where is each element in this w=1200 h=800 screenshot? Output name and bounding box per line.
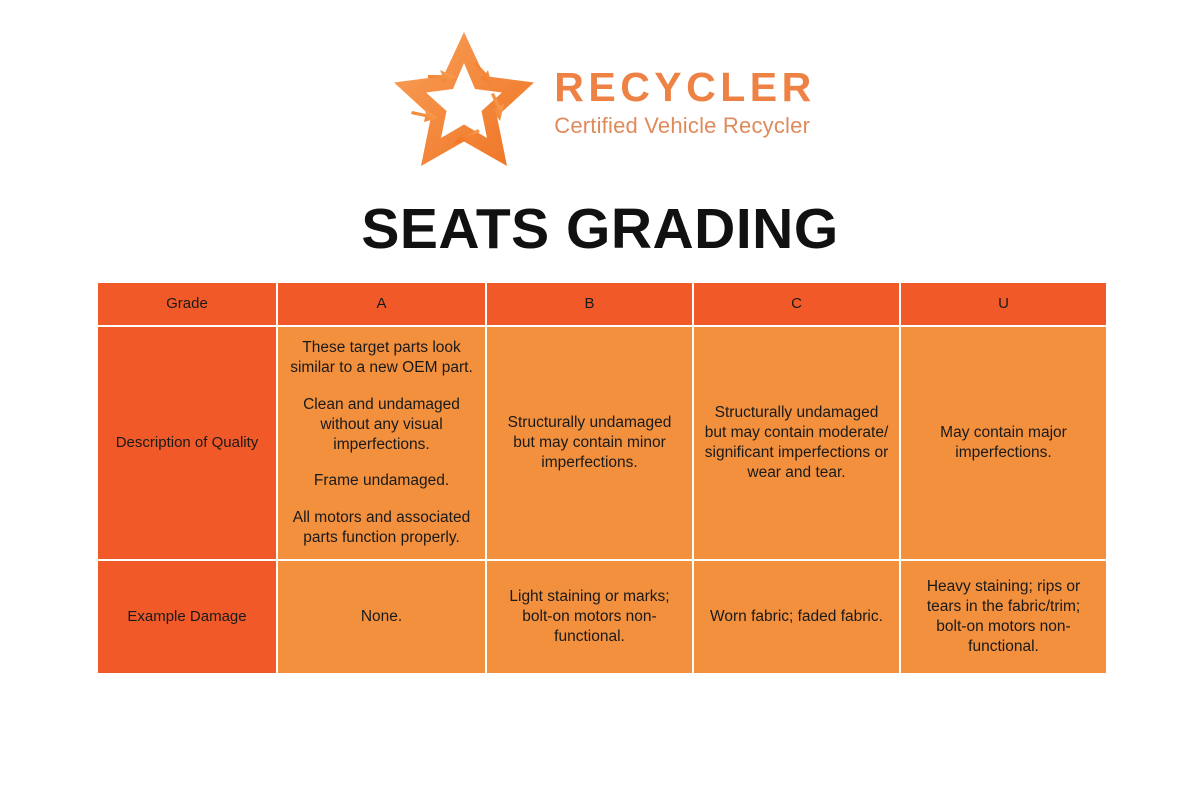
cell-damage-u: Heavy staining; rips or tears in the fab…: [901, 561, 1106, 673]
brand-name: RECYCLER: [554, 66, 816, 109]
row-label-example-damage: Example Damage: [98, 561, 276, 673]
header-grade-b: B: [487, 283, 692, 325]
header-grade-c: C: [694, 283, 899, 325]
header-grade-u: U: [901, 283, 1106, 325]
row-label-description-of-quality: Description of Quality: [98, 327, 276, 559]
seats-grading-table: Grade A B C U Description of Quality The…: [96, 281, 1108, 675]
cell-description-b: Structurally undamaged but may contain m…: [487, 327, 692, 559]
seats-grading-page: RECYCLER Certified Vehicle Recycler SEAT…: [0, 0, 1200, 800]
header-grade-a: A: [278, 283, 485, 325]
cell-damage-a: None.: [278, 561, 485, 673]
header-grade: Grade: [98, 283, 276, 325]
table-row: Example Damage None. Light staining or m…: [98, 561, 1106, 673]
recycling-star-icon: [384, 30, 544, 175]
brand-logo: RECYCLER Certified Vehicle Recycler: [0, 30, 1200, 175]
cell-description-u: May contain major imperfections.: [901, 327, 1106, 559]
cell-description-c: Structurally undamaged but may contain m…: [694, 327, 899, 559]
table-row: Description of Quality These target part…: [98, 327, 1106, 559]
brand-tagline: Certified Vehicle Recycler: [554, 114, 816, 138]
table-header-row: Grade A B C U: [98, 283, 1106, 325]
cell-damage-b: Light staining or marks; bolt-on motors …: [487, 561, 692, 673]
cell-description-a: These target parts look similar to a new…: [278, 327, 485, 559]
cell-damage-c: Worn fabric; faded fabric.: [694, 561, 899, 673]
page-title: SEATS GRADING: [0, 196, 1200, 262]
